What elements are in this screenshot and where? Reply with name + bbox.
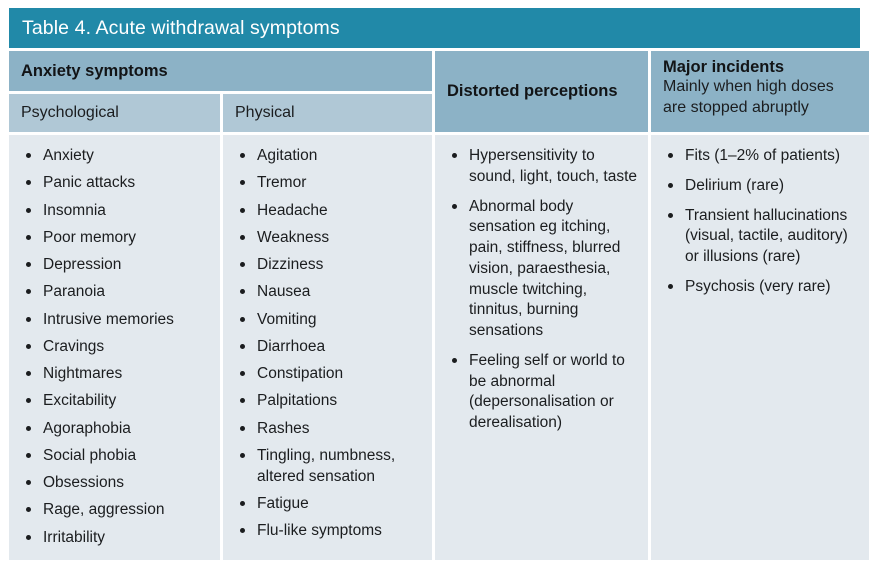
list-item: Psychosis (very rare) bbox=[661, 277, 861, 298]
table-cell-distorted-perceptions: Hypersensitivity to sound, light, touch,… bbox=[435, 135, 648, 560]
symptom-list-physical: Agitation Tremor Headache Weakness Dizzi… bbox=[233, 146, 424, 542]
column-header-physical: Physical bbox=[223, 94, 432, 132]
list-item: Dizziness bbox=[233, 255, 424, 276]
column-header-major-incidents: Major incidents Mainly when high doses a… bbox=[651, 51, 869, 132]
list-item: Nightmares bbox=[19, 364, 212, 385]
list-item: Vomiting bbox=[233, 310, 424, 331]
column-header-title: Distorted perceptions bbox=[447, 81, 638, 101]
list-item: Obsessions bbox=[19, 473, 212, 494]
list-item: Transient hallucinations (visual, tactil… bbox=[661, 206, 861, 268]
list-item: Constipation bbox=[233, 364, 424, 385]
table-cell-psychological: Anxiety Panic attacks Insomnia Poor memo… bbox=[9, 135, 220, 560]
list-item: Fits (1–2% of patients) bbox=[661, 146, 861, 167]
column-header-subtitle: Mainly when high doses are stopped abrup… bbox=[663, 77, 859, 118]
list-item: Anxiety bbox=[19, 146, 212, 167]
list-item: Feeling self or world to be abnormal (de… bbox=[445, 351, 640, 434]
list-item: Fatigue bbox=[233, 494, 424, 515]
list-item: Weakness bbox=[233, 228, 424, 249]
symptom-list-psychological: Anxiety Panic attacks Insomnia Poor memo… bbox=[19, 146, 212, 548]
column-header-psychological: Psychological bbox=[9, 94, 220, 132]
table-cell-major-incidents: Fits (1–2% of patients) Delirium (rare) … bbox=[651, 135, 869, 560]
table-title: Table 4. Acute withdrawal symptoms bbox=[9, 8, 860, 48]
group-header-anxiety-symptoms: Anxiety symptoms bbox=[9, 51, 432, 91]
page-root: Table 4. Acute withdrawal symptoms Anxie… bbox=[0, 0, 869, 561]
list-item: Agitation bbox=[233, 146, 424, 167]
table-cell-physical: Agitation Tremor Headache Weakness Dizzi… bbox=[223, 135, 432, 560]
list-item: Tingling, numbness, altered sensation bbox=[233, 446, 424, 488]
list-item: Paranoia bbox=[19, 282, 212, 303]
list-item: Irritability bbox=[19, 528, 212, 549]
list-item: Depression bbox=[19, 255, 212, 276]
list-item: Headache bbox=[233, 201, 424, 222]
symptom-list-distorted-perceptions: Hypersensitivity to sound, light, touch,… bbox=[445, 146, 640, 434]
symptom-list-major-incidents: Fits (1–2% of patients) Delirium (rare) … bbox=[661, 146, 861, 298]
list-item: Rage, aggression bbox=[19, 500, 212, 521]
list-item: Intrusive memories bbox=[19, 310, 212, 331]
list-item: Delirium (rare) bbox=[661, 176, 861, 197]
column-header-distorted-perceptions: Distorted perceptions bbox=[435, 51, 648, 132]
list-item: Social phobia bbox=[19, 446, 212, 467]
list-item: Hypersensitivity to sound, light, touch,… bbox=[445, 146, 640, 188]
table-grid: Anxiety symptoms Distorted perceptions M… bbox=[9, 51, 860, 560]
list-item: Poor memory bbox=[19, 228, 212, 249]
list-item: Agoraphobia bbox=[19, 419, 212, 440]
list-item: Cravings bbox=[19, 337, 212, 358]
list-item: Rashes bbox=[233, 419, 424, 440]
list-item: Nausea bbox=[233, 282, 424, 303]
data-table: Table 4. Acute withdrawal symptoms Anxie… bbox=[9, 8, 860, 560]
list-item: Excitability bbox=[19, 391, 212, 412]
list-item: Panic attacks bbox=[19, 173, 212, 194]
list-item: Abnormal body sensation eg itching, pain… bbox=[445, 197, 640, 342]
list-item: Insomnia bbox=[19, 201, 212, 222]
column-header-title: Major incidents bbox=[663, 57, 859, 77]
list-item: Palpitations bbox=[233, 391, 424, 412]
list-item: Flu-like symptoms bbox=[233, 521, 424, 542]
list-item: Diarrhoea bbox=[233, 337, 424, 358]
list-item: Tremor bbox=[233, 173, 424, 194]
